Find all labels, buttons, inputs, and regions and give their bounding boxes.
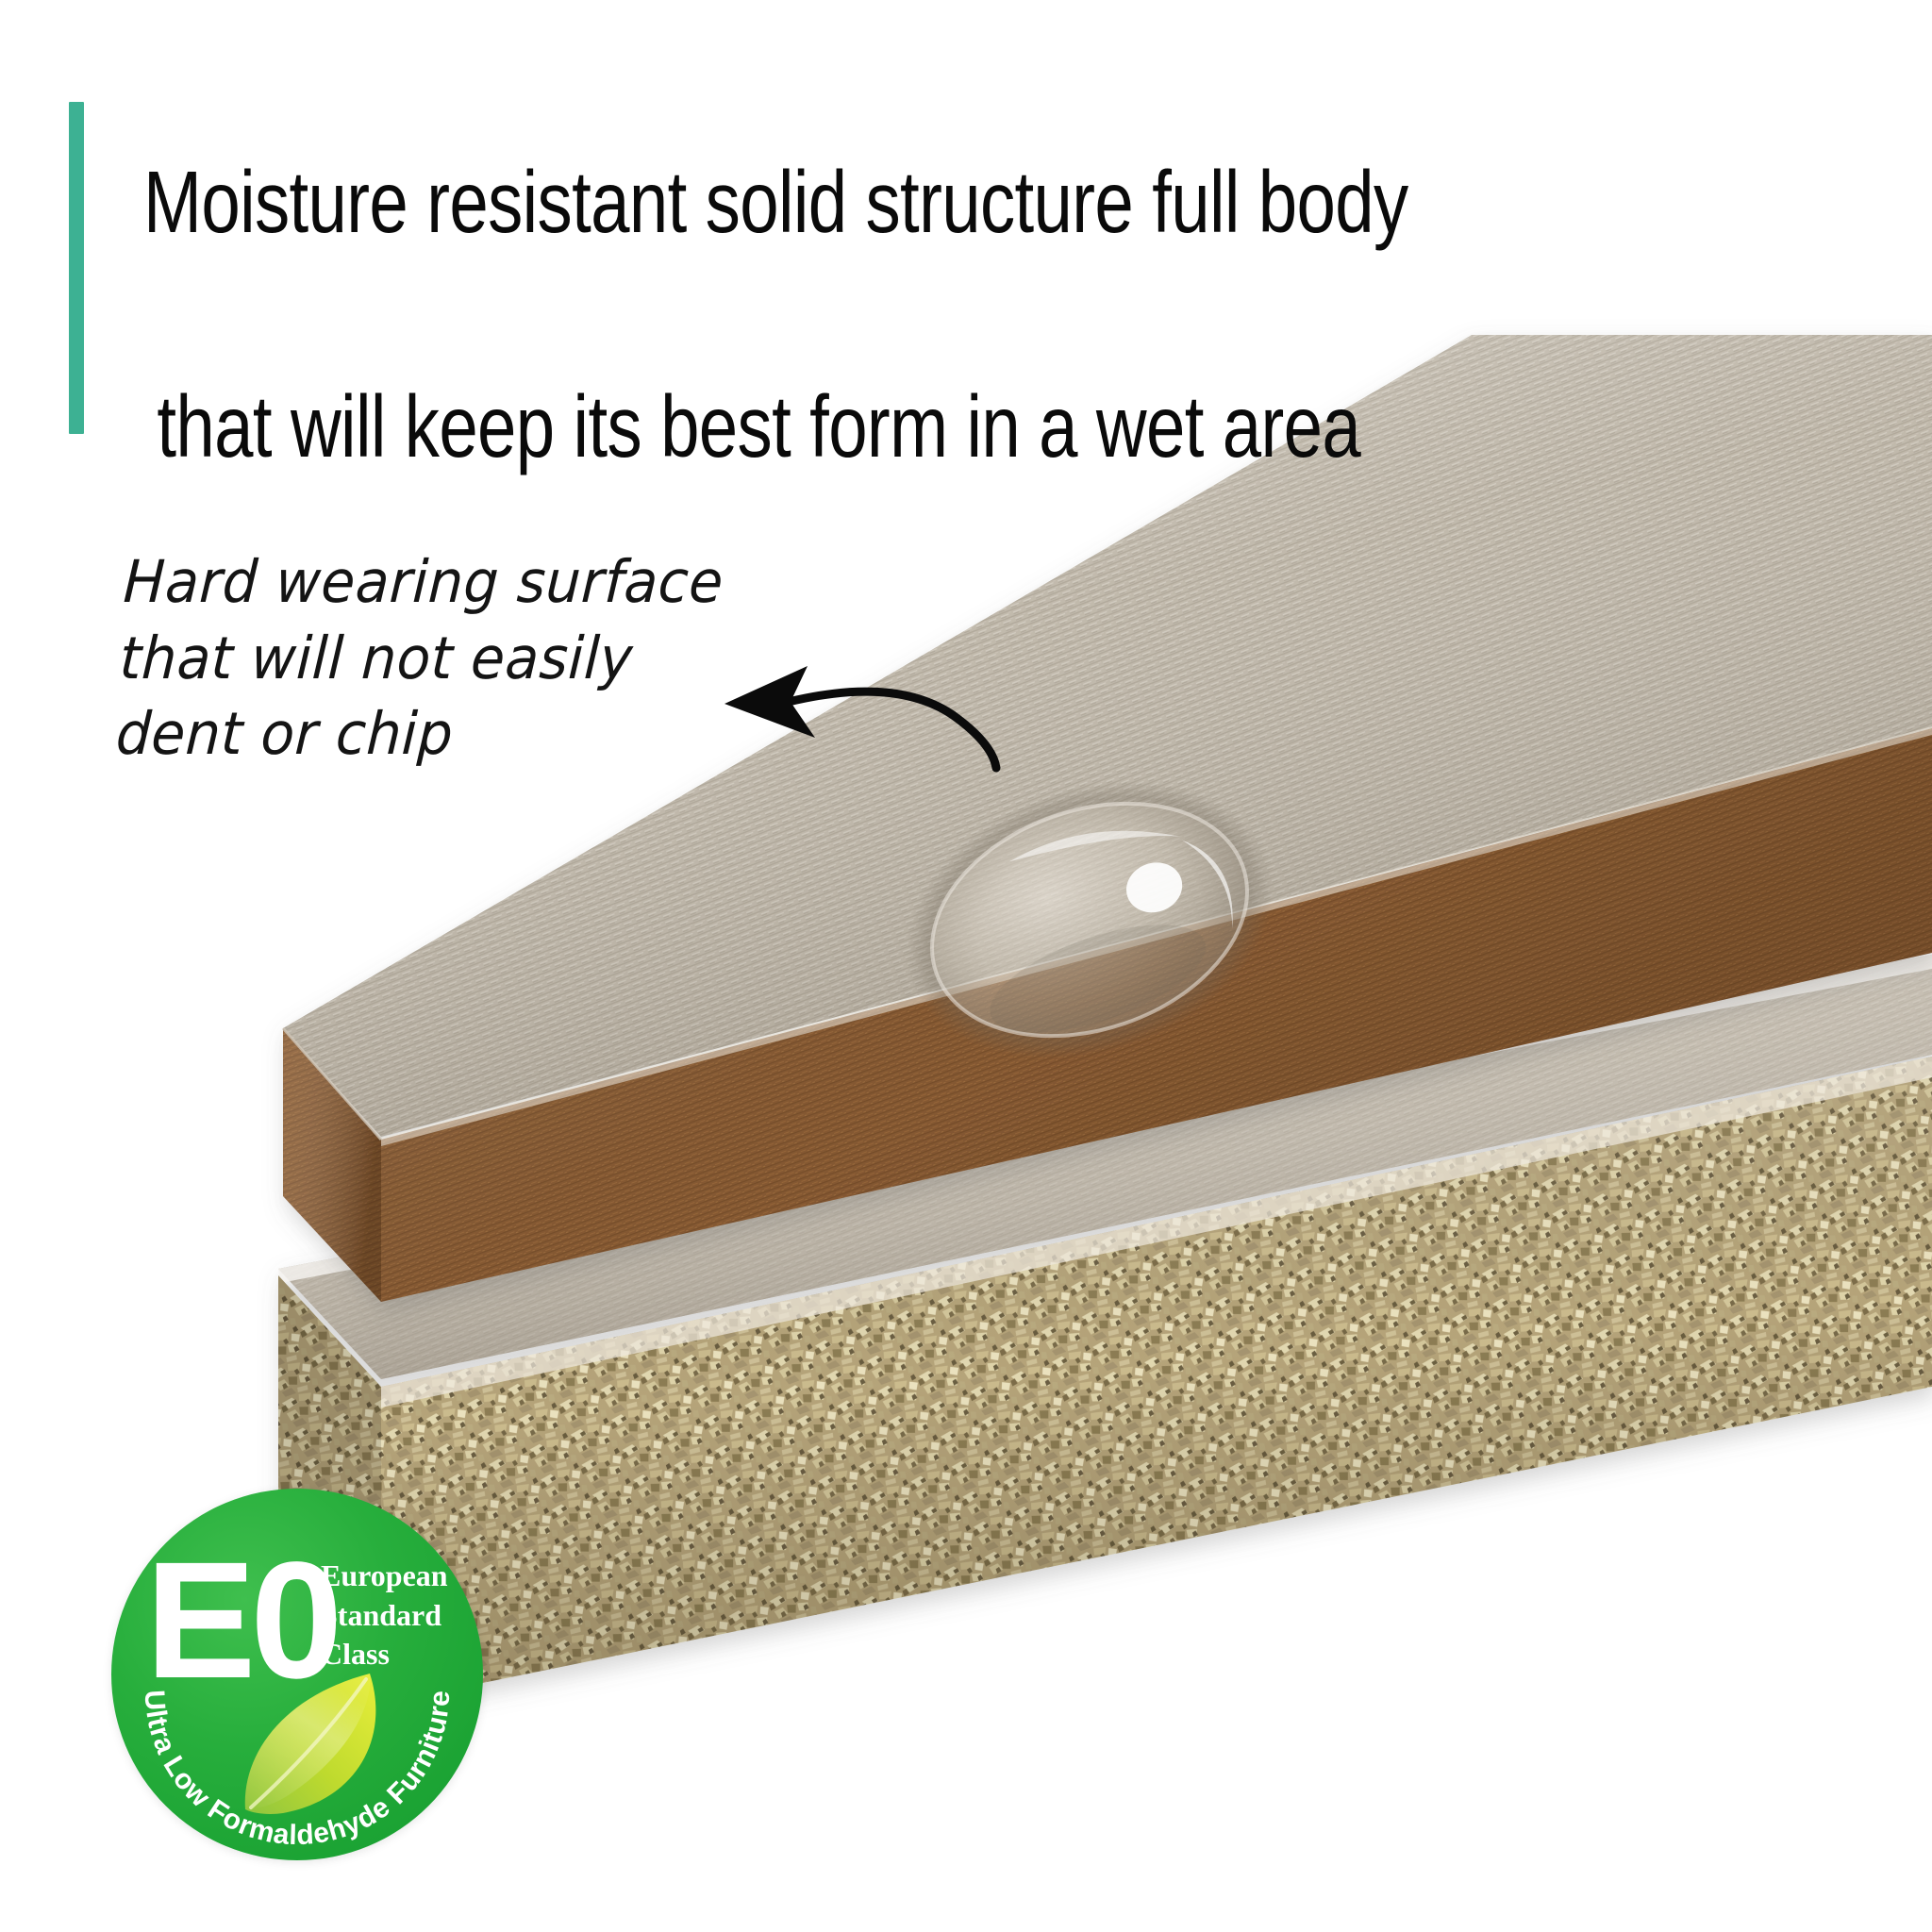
badge-subtitle-line-1: European	[321, 1557, 462, 1596]
infographic-canvas: Moisture resistant solid structure full …	[0, 0, 1932, 1932]
page-title: Moisture resistant solid structure full …	[143, 146, 1472, 483]
badge-subtitle-line-2: Standard	[321, 1596, 462, 1636]
headline-line-1: Moisture resistant solid structure full …	[143, 153, 1408, 251]
annotation-note: Hard wearing surface that will not easil…	[114, 544, 799, 773]
annotation-line-2: that will not easily	[118, 621, 795, 697]
annotation-line-1: Hard wearing surface	[122, 544, 799, 621]
accent-bar	[69, 102, 84, 434]
headline-line-2: that will keep its best form in a wet ar…	[143, 371, 1360, 483]
curved-arrow-left-icon	[717, 651, 1038, 821]
badge-subtitle: European Standard Class	[321, 1557, 462, 1674]
annotation-line-3: dent or chip	[114, 696, 791, 773]
eo-certification-badge[interactable]: Ultra Low Formaldehyde Furniture E0 Euro…	[111, 1489, 483, 1860]
leaf-icon	[232, 1668, 421, 1819]
